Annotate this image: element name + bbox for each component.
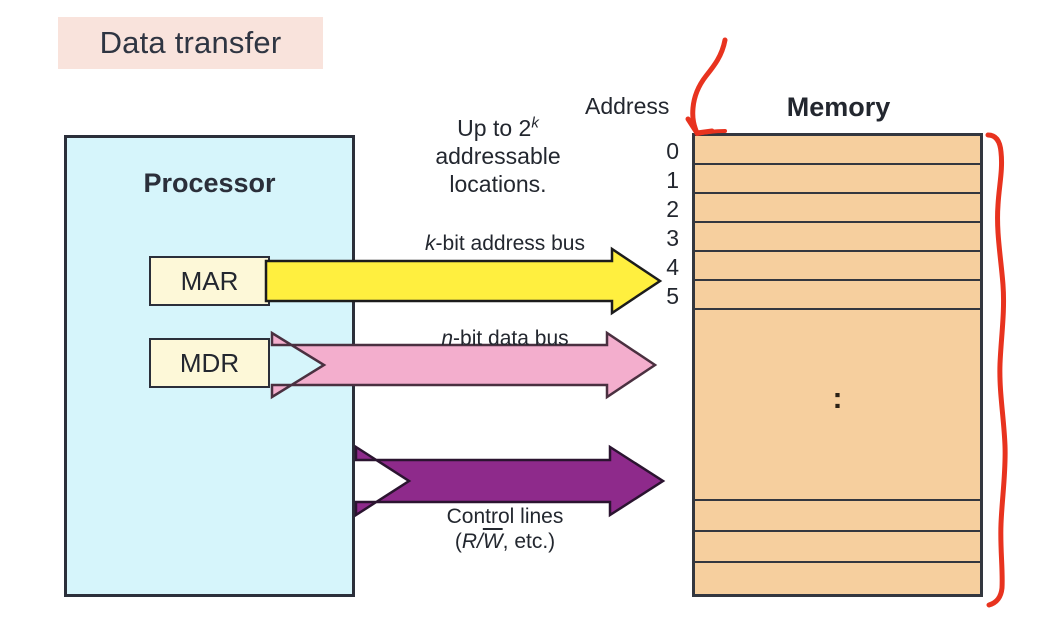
slide-title-box: Data transfer <box>58 17 323 69</box>
memory-label: Memory <box>693 92 984 123</box>
address-number-4: 4 <box>645 254 679 281</box>
address-number-1: 1 <box>645 167 679 194</box>
address-number-2: 2 <box>645 196 679 223</box>
control-bus-label: Control lines (R/W, etc.) <box>355 505 655 555</box>
mdr-register: MDR <box>149 338 270 388</box>
mdr-register-label: MDR <box>180 348 239 379</box>
address-column-header: Address <box>585 93 669 120</box>
diagram-canvas: Data transfer Processor MAR MDR k-bit ad… <box>0 0 1044 622</box>
addressable-note-prefix: Up to 2 <box>457 115 531 141</box>
memory-cell <box>695 136 980 165</box>
addressable-note-line3: locations. <box>398 170 598 198</box>
memory-cell <box>695 165 980 194</box>
control-paren-open: ( <box>455 530 462 553</box>
control-bus-label-line1: Control lines <box>355 505 655 530</box>
memory-cell-continuation: : <box>695 310 980 501</box>
control-paren-close: , etc.) <box>503 530 556 553</box>
memory-cell <box>695 194 980 223</box>
slide-title: Data transfer <box>58 17 323 69</box>
address-number-3: 3 <box>645 225 679 252</box>
memory-vertical-ellipsis: : <box>833 390 843 408</box>
control-read-symbol: R <box>462 530 477 553</box>
data-bus-label: n-bit data bus <box>355 327 655 351</box>
address-number-0: 0 <box>645 138 679 165</box>
data-bus-label-prefix: n <box>441 327 453 350</box>
addressable-note-exponent: k <box>531 114 539 131</box>
memory-cell <box>695 501 980 532</box>
memory-cell <box>695 281 980 310</box>
data-bus-label-rest: -bit data bus <box>453 327 569 350</box>
memory-block: : <box>692 133 983 597</box>
addressable-note-line2: addressable <box>398 142 598 170</box>
memory-cell <box>695 223 980 252</box>
mar-register-label: MAR <box>181 266 239 297</box>
address-bus-label-prefix: k <box>425 232 436 255</box>
memory-cell <box>695 532 980 563</box>
addressable-locations-note: Up to 2k addressable locations. <box>398 114 598 198</box>
address-bus-label-rest: -bit address bus <box>436 232 585 255</box>
mar-register: MAR <box>149 256 270 306</box>
memory-cell <box>695 252 980 281</box>
addressable-note-line1: Up to 2k <box>398 114 598 142</box>
processor-label: Processor <box>64 168 355 199</box>
red-bracket-annotation <box>988 135 1005 605</box>
control-bus-label-line2: (R/W, etc.) <box>355 530 655 555</box>
address-bus-label: k-bit address bus <box>355 232 655 256</box>
memory-cell <box>695 563 980 594</box>
control-write-symbol: W <box>483 530 503 553</box>
address-number-5: 5 <box>645 283 679 310</box>
